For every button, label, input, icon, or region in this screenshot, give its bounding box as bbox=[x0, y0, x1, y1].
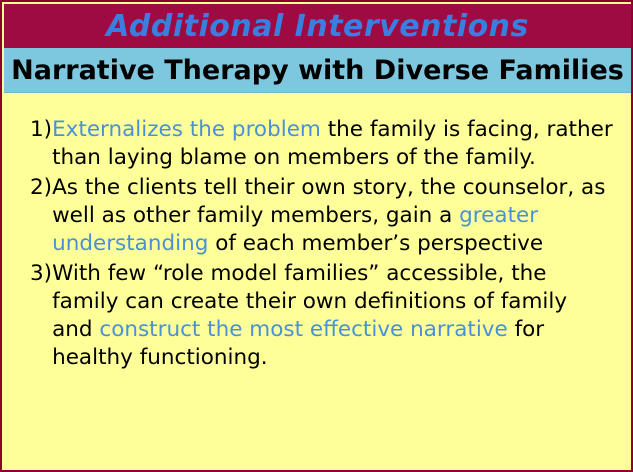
list-item: 1)Externalizes the problem the family is… bbox=[30, 116, 613, 172]
slide-title-bar: Additional Interventions bbox=[4, 4, 631, 48]
slide-title: Additional Interventions bbox=[106, 9, 529, 44]
list-item: 2)As the clients tell their own story, t… bbox=[30, 174, 613, 258]
bullet-list: 1)Externalizes the problem the family is… bbox=[30, 116, 613, 371]
list-item-text: Externalizes the problem the family is f… bbox=[52, 116, 613, 172]
list-item-text: With few “role model families” accessibl… bbox=[52, 260, 613, 372]
slide-subtitle: Narrative Therapy with Diverse Families bbox=[11, 55, 624, 86]
highlighted-phrase: Externalizes the problem bbox=[52, 117, 321, 142]
slide-subtitle-bar: Narrative Therapy with Diverse Families bbox=[4, 48, 631, 93]
list-item-number: 1) bbox=[30, 116, 52, 144]
highlighted-phrase: construct the most effective narrative bbox=[99, 317, 507, 342]
list-item-number: 3) bbox=[30, 260, 52, 288]
slide: Additional Interventions Narrative Thera… bbox=[0, 0, 633, 472]
list-item-number: 2) bbox=[30, 174, 52, 202]
plain-text: of each member’s perspective bbox=[208, 231, 543, 256]
list-item: 3)With few “role model families” accessi… bbox=[30, 260, 613, 372]
slide-body: 1)Externalizes the problem the family is… bbox=[4, 94, 631, 470]
list-item-text: As the clients tell their own story, the… bbox=[52, 174, 613, 258]
